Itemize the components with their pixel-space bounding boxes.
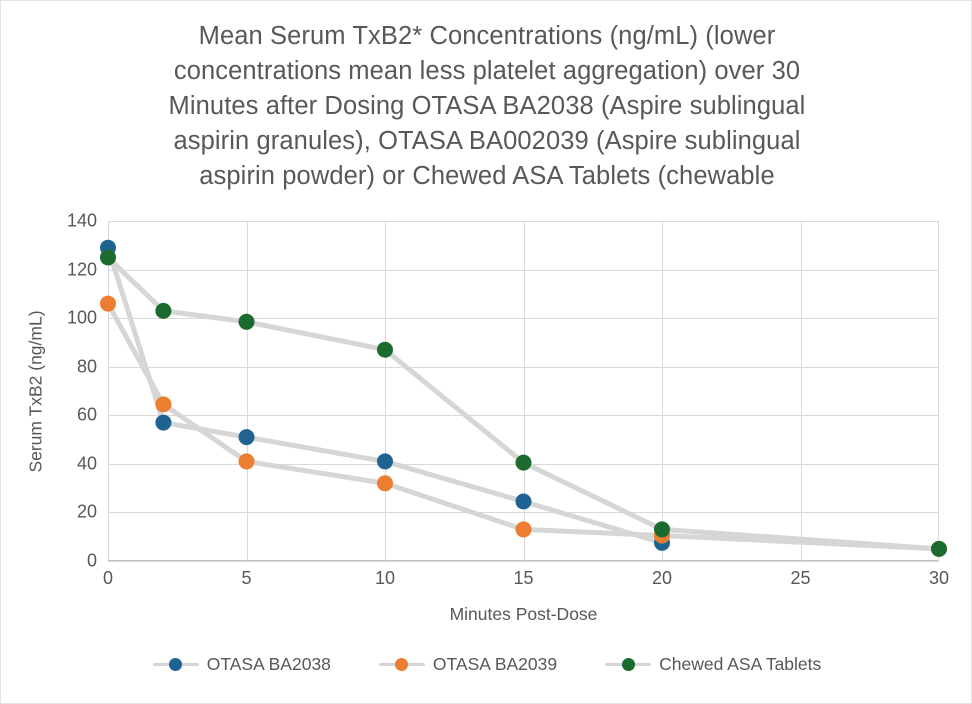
data-point[interactable]: [100, 296, 116, 312]
data-point[interactable]: [516, 494, 532, 510]
legend-key-dot: [622, 658, 635, 671]
legend-label: OTASA BA2038: [207, 654, 331, 675]
legend-marker-icon: [379, 658, 425, 672]
data-point[interactable]: [155, 396, 171, 412]
data-point[interactable]: [516, 455, 532, 471]
x-tick-label: 30: [929, 568, 949, 589]
legend-key-dot: [169, 658, 182, 671]
data-point[interactable]: [239, 429, 255, 445]
y-axis-title: Serum TxB2 (ng/mL): [23, 221, 49, 561]
y-tick-label: 40: [77, 453, 97, 474]
data-point[interactable]: [100, 249, 116, 265]
legend-item[interactable]: Chewed ASA Tablets: [605, 654, 821, 675]
legend-marker-icon: [153, 658, 199, 672]
legend-item[interactable]: OTASA BA2038: [153, 654, 331, 675]
gridline-horizontal: [108, 561, 939, 562]
y-axis-title-label: Serum TxB2 (ng/mL): [26, 310, 47, 472]
legend-label: OTASA BA2039: [433, 654, 557, 675]
legend-key-dot: [395, 658, 408, 671]
plot-area: 020406080100120140051015202530: [108, 221, 939, 561]
data-point[interactable]: [931, 541, 947, 557]
legend-label: Chewed ASA Tablets: [659, 654, 821, 675]
x-tick-label: 0: [103, 568, 113, 589]
y-tick-label: 0: [87, 551, 97, 572]
x-tick-label: 5: [241, 568, 251, 589]
data-point[interactable]: [155, 303, 171, 319]
chart-page: Mean Serum TxB2* Concentrations (ng/mL) …: [0, 0, 972, 704]
y-tick-label: 20: [77, 502, 97, 523]
y-tick-label: 80: [77, 356, 97, 377]
chart-title: Mean Serum TxB2* Concentrations (ng/mL) …: [111, 19, 863, 194]
y-tick-label: 120: [67, 259, 97, 280]
x-tick-label: 15: [513, 568, 533, 589]
data-point[interactable]: [239, 453, 255, 469]
data-point[interactable]: [155, 415, 171, 431]
series-line: [108, 248, 662, 543]
x-tick-label: 10: [375, 568, 395, 589]
data-point[interactable]: [377, 475, 393, 491]
x-tick-label: 25: [790, 568, 810, 589]
data-point[interactable]: [377, 453, 393, 469]
series-line: [108, 304, 939, 549]
data-point[interactable]: [239, 314, 255, 330]
data-point[interactable]: [516, 521, 532, 537]
y-tick-label: 140: [67, 211, 97, 232]
y-tick-label: 100: [67, 308, 97, 329]
x-axis-title: Minutes Post-Dose: [108, 604, 939, 625]
data-point[interactable]: [377, 342, 393, 358]
data-point[interactable]: [654, 521, 670, 537]
x-tick-label: 20: [652, 568, 672, 589]
legend-marker-icon: [605, 658, 651, 672]
legend-item[interactable]: OTASA BA2039: [379, 654, 557, 675]
series-layer: [108, 221, 939, 561]
y-tick-label: 60: [77, 405, 97, 426]
chart-legend: OTASA BA2038OTASA BA2039Chewed ASA Table…: [1, 654, 972, 675]
